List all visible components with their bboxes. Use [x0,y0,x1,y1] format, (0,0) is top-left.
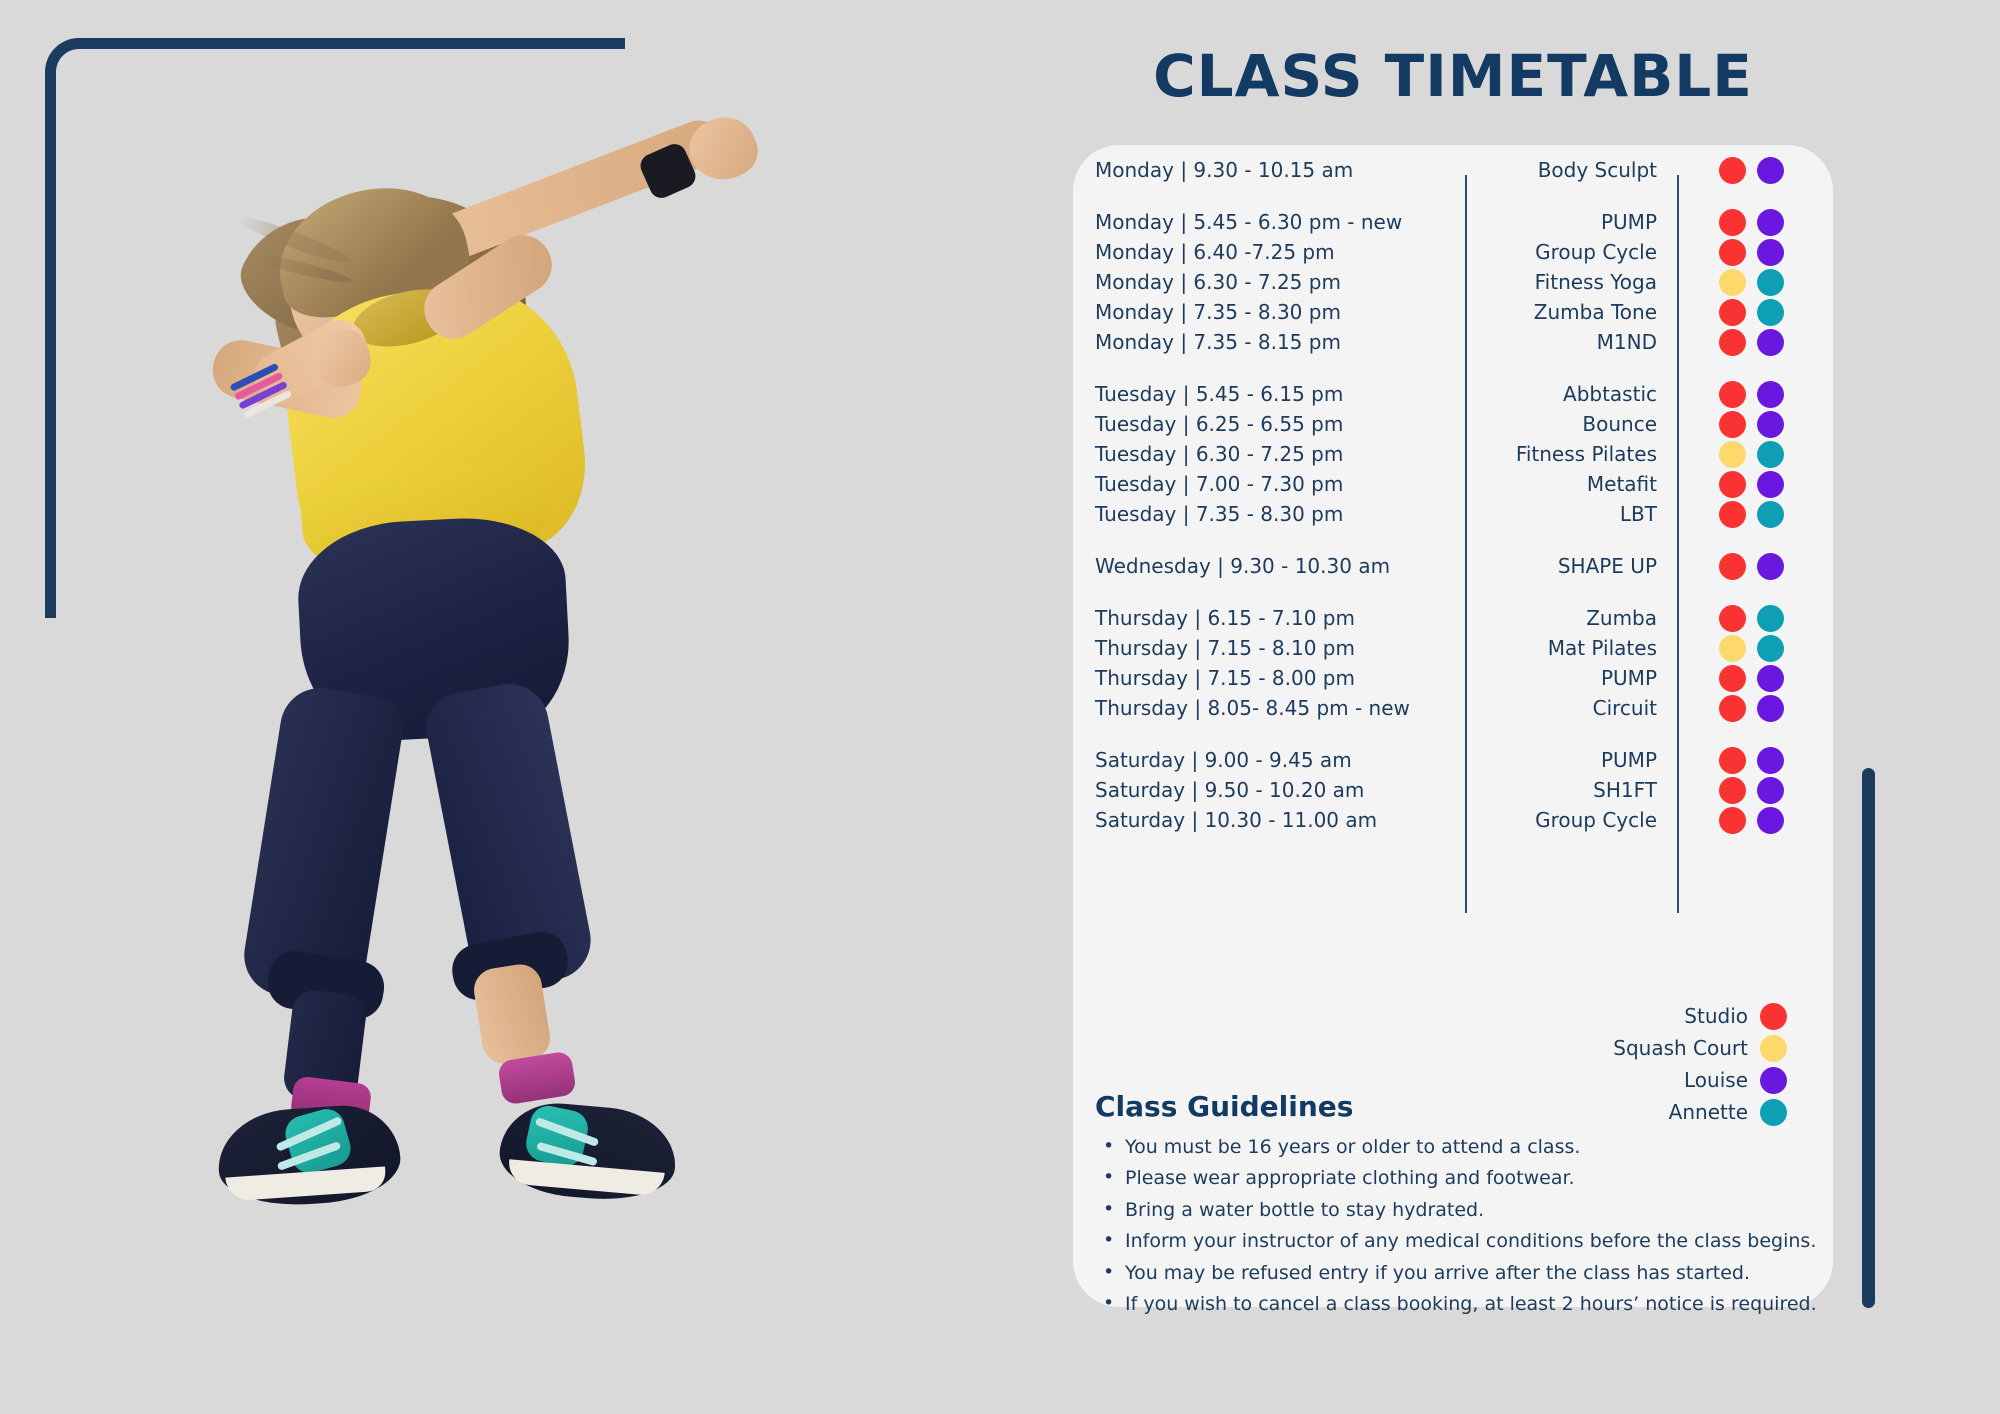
tag-dot-studio-red [1719,299,1746,326]
table-row[interactable]: Saturday | 9.50 - 10.20 amSH1FT [1073,775,1833,805]
tag-dot-squash-yellow [1719,635,1746,662]
class-time: Thursday | 6.15 - 7.10 pm [1095,606,1455,630]
class-tag-dots [1719,695,1819,722]
tag-dot-studio-red [1719,553,1746,580]
table-row[interactable]: Thursday | 7.15 - 8.10 pmMat Pilates [1073,633,1833,663]
class-time: Monday | 7.35 - 8.15 pm [1095,330,1455,354]
table-row[interactable]: Monday | 9.30 - 10.15 amBody Sculpt [1073,155,1833,185]
guideline-item: Bring a water bottle to stay hydrated. [1095,1198,1825,1223]
class-tag-dots [1719,239,1819,266]
class-name: Bounce [1465,412,1657,436]
class-tag-dots [1719,157,1819,184]
table-row[interactable]: Monday | 7.35 - 8.30 pmZumba Tone [1073,297,1833,327]
class-guidelines: Class Guidelines You must be 16 years or… [1095,1090,1825,1324]
tag-dot-studio-red [1719,239,1746,266]
tag-dot-studio-red [1719,381,1746,408]
tag-dot-annette-teal [1757,635,1784,662]
class-name: Group Cycle [1465,808,1657,832]
legend-dot-squash-yellow [1760,1035,1787,1062]
class-tag-dots [1719,441,1819,468]
tag-dot-annette-teal [1757,299,1784,326]
table-row[interactable]: Thursday | 8.05- 8.45 pm - newCircuit [1073,693,1833,723]
table-row[interactable]: Saturday | 9.00 - 9.45 amPUMP [1073,745,1833,775]
tag-dot-studio-red [1719,605,1746,632]
table-row[interactable]: Tuesday | 5.45 - 6.15 pmAbbtastic [1073,379,1833,409]
tag-dot-annette-teal [1757,501,1784,528]
tag-dot-studio-red [1719,501,1746,528]
legend-label: Louise [1684,1068,1748,1092]
class-name: Body Sculpt [1465,158,1657,182]
table-row[interactable]: Tuesday | 7.00 - 7.30 pmMetafit [1073,469,1833,499]
class-tag-dots [1719,665,1819,692]
table-row[interactable]: Thursday | 7.15 - 8.00 pmPUMP [1073,663,1833,693]
class-name: PUMP [1465,210,1657,234]
table-row[interactable]: Wednesday | 9.30 - 10.30 amSHAPE UP [1073,551,1833,581]
guidelines-title: Class Guidelines [1095,1090,1825,1123]
tag-dot-louise-purple [1757,329,1784,356]
class-tag-dots [1719,553,1819,580]
legend-item: Studio [1073,1000,1787,1032]
tag-dot-studio-red [1719,157,1746,184]
tag-dot-annette-teal [1757,441,1784,468]
class-time: Wednesday | 9.30 - 10.30 am [1095,554,1455,578]
class-tag-dots [1719,471,1819,498]
class-tag-dots [1719,329,1819,356]
tag-dot-studio-red [1719,747,1746,774]
class-name: SH1FT [1465,778,1657,802]
guideline-item: You must be 16 years or older to attend … [1095,1135,1825,1160]
table-row[interactable]: Tuesday | 6.25 - 6.55 pmBounce [1073,409,1833,439]
tag-dot-louise-purple [1757,747,1784,774]
class-name: Mat Pilates [1465,636,1657,660]
class-name: Fitness Yoga [1465,270,1657,294]
class-tag-dots [1719,299,1819,326]
class-name: Metafit [1465,472,1657,496]
class-time: Monday | 5.45 - 6.30 pm - new [1095,210,1455,234]
tag-dot-squash-yellow [1719,441,1746,468]
tag-dot-louise-purple [1757,807,1784,834]
tag-dot-louise-purple [1757,665,1784,692]
table-row[interactable]: Tuesday | 7.35 - 8.30 pmLBT [1073,499,1833,529]
class-name: PUMP [1465,748,1657,772]
class-name: Group Cycle [1465,240,1657,264]
class-tag-dots [1719,635,1819,662]
class-name: PUMP [1465,666,1657,690]
class-time: Monday | 7.35 - 8.30 pm [1095,300,1455,324]
class-time: Tuesday | 7.00 - 7.30 pm [1095,472,1455,496]
tag-dot-louise-purple [1757,553,1784,580]
class-time: Thursday | 7.15 - 8.00 pm [1095,666,1455,690]
class-time: Tuesday | 5.45 - 6.15 pm [1095,382,1455,406]
tag-dot-squash-yellow [1719,269,1746,296]
tag-dot-studio-red [1719,329,1746,356]
class-name: M1ND [1465,330,1657,354]
page-title: CLASS TIMETABLE [1073,42,1833,110]
table-row[interactable]: Monday | 6.30 - 7.25 pmFitness Yoga [1073,267,1833,297]
tag-dot-studio-red [1719,411,1746,438]
class-name: SHAPE UP [1465,554,1657,578]
tag-dot-annette-teal [1757,269,1784,296]
guideline-item: If you wish to cancel a class booking, a… [1095,1292,1825,1317]
tag-dot-studio-red [1719,807,1746,834]
tag-dot-studio-red [1719,209,1746,236]
guideline-item: Inform your instructor of any medical co… [1095,1229,1825,1254]
class-tag-dots [1719,777,1819,804]
tag-dot-studio-red [1719,665,1746,692]
guideline-item: You may be refused entry if you arrive a… [1095,1261,1825,1286]
class-time: Tuesday | 7.35 - 8.30 pm [1095,502,1455,526]
tag-dot-louise-purple [1757,209,1784,236]
legend-dot-studio-red [1760,1003,1787,1030]
tag-dot-louise-purple [1757,777,1784,804]
class-tag-dots [1719,501,1819,528]
tag-dot-louise-purple [1757,381,1784,408]
legend-item: Squash Court [1073,1032,1787,1064]
tag-dot-louise-purple [1757,411,1784,438]
class-time: Saturday | 9.50 - 10.20 am [1095,778,1455,802]
class-tag-dots [1719,807,1819,834]
class-time: Monday | 6.40 -7.25 pm [1095,240,1455,264]
table-row[interactable]: Tuesday | 6.30 - 7.25 pmFitness Pilates [1073,439,1833,469]
class-name: LBT [1465,502,1657,526]
table-row[interactable]: Saturday | 10.30 - 11.00 amGroup Cycle [1073,805,1833,835]
tag-dot-louise-purple [1757,695,1784,722]
class-time: Saturday | 10.30 - 11.00 am [1095,808,1455,832]
class-tag-dots [1719,605,1819,632]
class-name: Abbtastic [1465,382,1657,406]
table-row[interactable]: Monday | 5.45 - 6.30 pm - newPUMP [1073,207,1833,237]
class-time: Thursday | 7.15 - 8.10 pm [1095,636,1455,660]
fitness-photo [0,0,1040,1414]
guideline-item: Please wear appropriate clothing and foo… [1095,1166,1825,1191]
class-time: Tuesday | 6.25 - 6.55 pm [1095,412,1455,436]
tag-dot-studio-red [1719,695,1746,722]
class-tag-dots [1719,269,1819,296]
tag-dot-louise-purple [1757,157,1784,184]
legend-label: Squash Court [1613,1036,1748,1060]
class-tag-dots [1719,411,1819,438]
tag-dot-studio-red [1719,777,1746,804]
schedule-table: Monday | 9.30 - 10.15 amBody SculptMonda… [1073,145,1833,835]
class-name: Zumba [1465,606,1657,630]
class-tag-dots [1719,381,1819,408]
legend-label: Studio [1684,1004,1748,1028]
table-row[interactable]: Thursday | 6.15 - 7.10 pmZumba [1073,603,1833,633]
class-time: Monday | 6.30 - 7.25 pm [1095,270,1455,294]
class-tag-dots [1719,747,1819,774]
right-vertical-bar-decoration [1862,768,1875,1308]
class-tag-dots [1719,209,1819,236]
class-time: Monday | 9.30 - 10.15 am [1095,158,1455,182]
class-name: Zumba Tone [1465,300,1657,324]
class-time: Thursday | 8.05- 8.45 pm - new [1095,696,1455,720]
tag-dot-studio-red [1719,471,1746,498]
table-row[interactable]: Monday | 7.35 - 8.15 pmM1ND [1073,327,1833,357]
tag-dot-annette-teal [1757,605,1784,632]
class-name: Circuit [1465,696,1657,720]
table-row[interactable]: Monday | 6.40 -7.25 pmGroup Cycle [1073,237,1833,267]
class-name: Fitness Pilates [1465,442,1657,466]
class-time: Tuesday | 6.30 - 7.25 pm [1095,442,1455,466]
class-time: Saturday | 9.00 - 9.45 am [1095,748,1455,772]
tag-dot-louise-purple [1757,471,1784,498]
guidelines-list: You must be 16 years or older to attend … [1095,1135,1825,1318]
tag-dot-louise-purple [1757,239,1784,266]
